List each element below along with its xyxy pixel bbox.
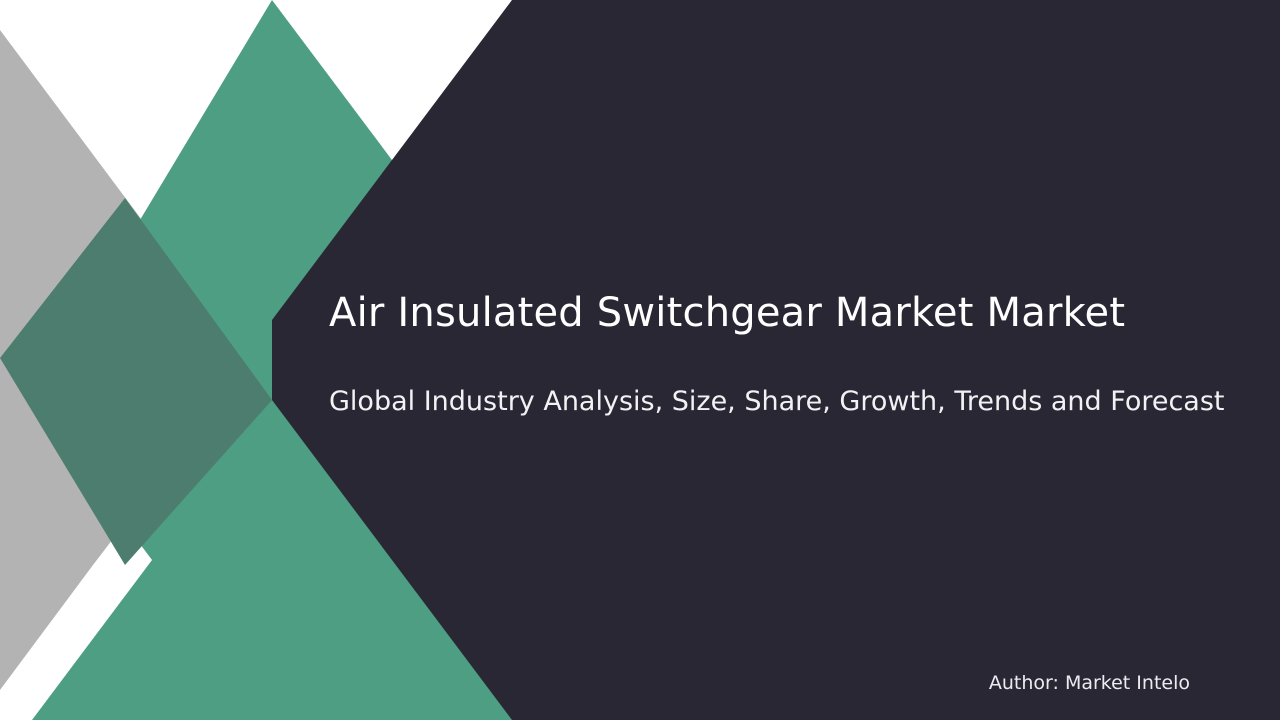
page-title: Air Insulated Switchgear Market Market xyxy=(329,289,1229,337)
title-slide: Air Insulated Switchgear Market Market G… xyxy=(0,0,1280,720)
page-subtitle: Global Industry Analysis, Size, Share, G… xyxy=(329,385,1249,419)
author-credit: Author: Market Intelo xyxy=(329,672,1190,694)
slide-content: Air Insulated Switchgear Market Market G… xyxy=(0,0,1280,720)
